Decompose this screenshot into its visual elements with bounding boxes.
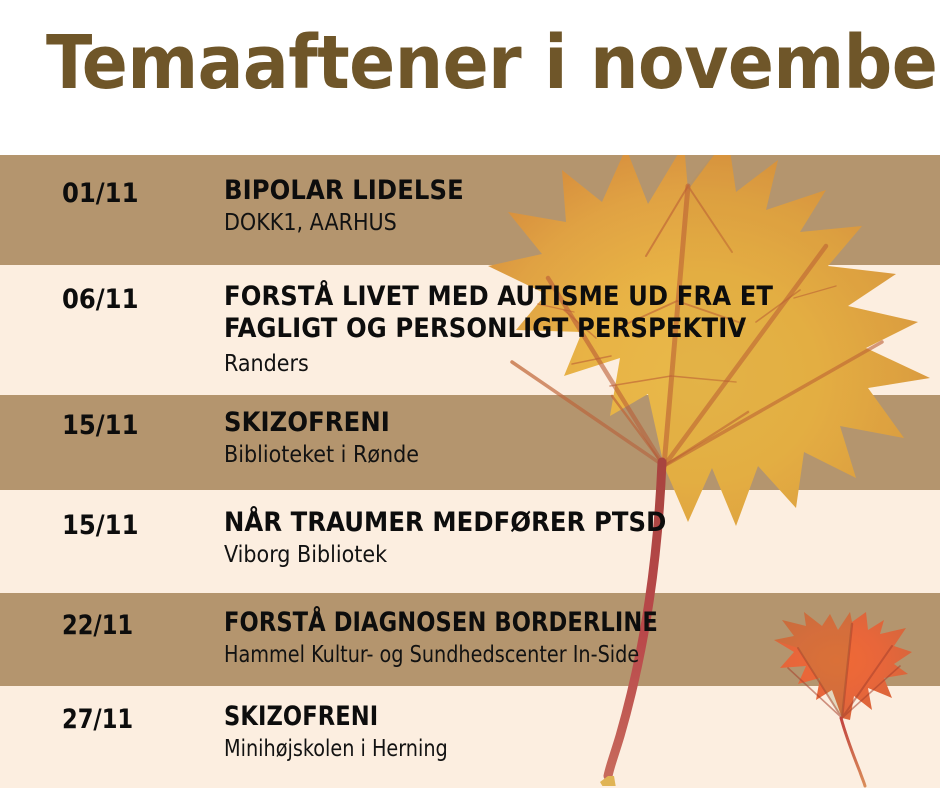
band-row-3 [0, 395, 940, 490]
band-row-4 [0, 490, 940, 593]
title-band: Temaaftener i november [0, 0, 940, 155]
page-title: Temaaftener i november [46, 22, 923, 104]
band-row-1 [0, 155, 940, 265]
poster-canvas: Temaaftener i november 01/11 BIPOLAR LID… [0, 0, 940, 788]
band-row-6 [0, 686, 940, 788]
band-row-2 [0, 265, 940, 395]
band-row-5 [0, 593, 940, 686]
